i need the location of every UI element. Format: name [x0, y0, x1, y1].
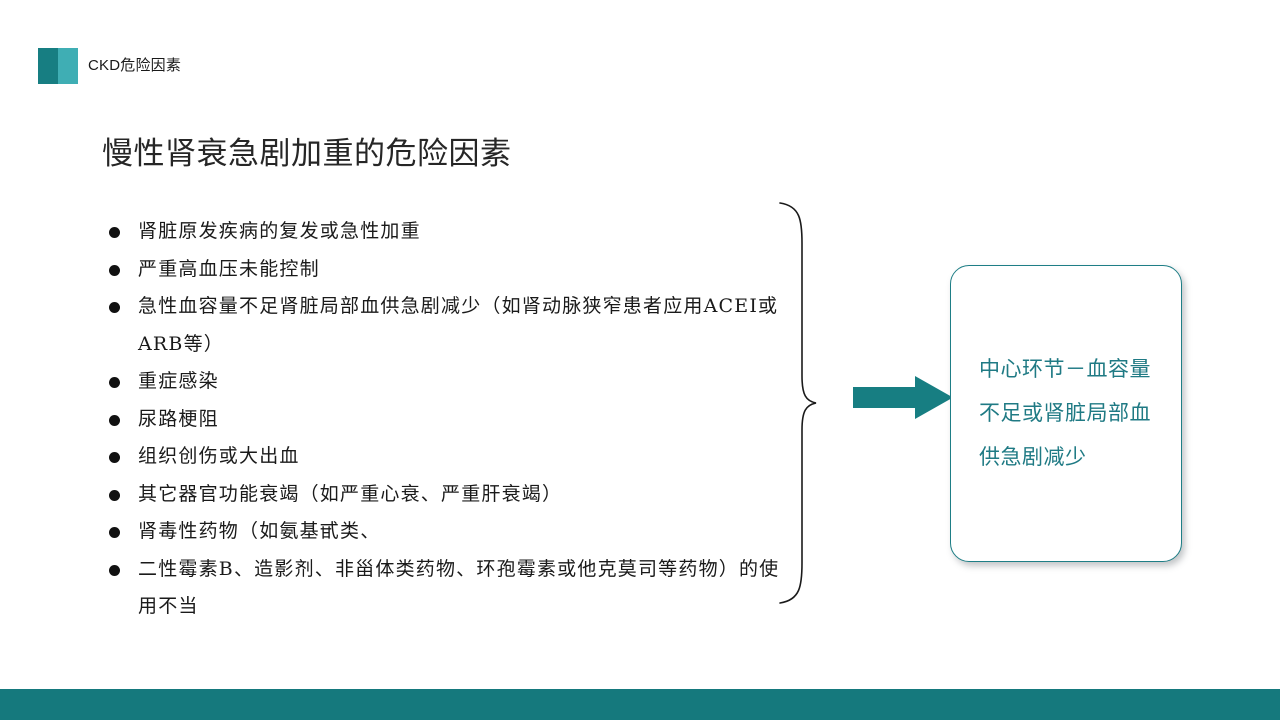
risk-factor-list: 肾脏原发疾病的复发或急性加重 严重高血压未能控制 急性血容量不足肾脏局部血供急剧… [106, 213, 796, 626]
header-accent-square-dark [38, 48, 58, 84]
list-item: 肾毒性药物（如氨基甙类、 [106, 513, 796, 551]
list-item: 其它器官功能衰竭（如严重心衰、严重肝衰竭） [106, 476, 796, 514]
footer-bar [0, 689, 1280, 720]
list-item-text: 肾脏原发疾病的复发或急性加重 [138, 220, 421, 242]
list-item: 重症感染 [106, 363, 796, 401]
header-label: CKD危险因素 [88, 55, 181, 77]
list-item: 严重高血压未能控制 [106, 251, 796, 289]
right-arrow-icon [853, 376, 953, 420]
header-accent-mark [38, 48, 78, 84]
list-item-text: 重症感染 [138, 370, 219, 392]
list-item: 急性血容量不足肾脏局部血供急剧减少（如肾动脉狭窄患者应用ACEI或ARB等） [106, 288, 796, 363]
list-item: 尿路梗阻 [106, 401, 796, 439]
list-item-text: 急性血容量不足肾脏局部血供急剧减少（如肾动脉狭窄患者应用ACEI或ARB等） [138, 295, 778, 355]
list-item-text: 二性霉素B、造影剂、非甾体类药物、环孢霉素或他克莫司等药物）的使用不当 [138, 558, 779, 618]
callout-box: 中心环节－血容量不足或肾脏局部血供急剧减少 [950, 265, 1182, 562]
callout-text: 中心环节－血容量不足或肾脏局部血供急剧减少 [951, 348, 1181, 480]
list-item: 组织创伤或大出血 [106, 438, 796, 476]
header-accent-square-light [58, 48, 78, 84]
list-item-text: 肾毒性药物（如氨基甙类、 [138, 520, 380, 542]
list-item: 二性霉素B、造影剂、非甾体类药物、环孢霉素或他克莫司等药物）的使用不当 [106, 551, 796, 626]
page-title: 慢性肾衰急剧加重的危险因素 [102, 133, 512, 175]
list-item: 肾脏原发疾病的复发或急性加重 [106, 213, 796, 251]
slide-canvas: CKD危险因素 慢性肾衰急剧加重的危险因素 肾脏原发疾病的复发或急性加重 严重高… [0, 0, 1280, 720]
list-item-text: 组织创伤或大出血 [138, 445, 300, 467]
list-item-text: 尿路梗阻 [138, 408, 219, 430]
list-item-text: 其它器官功能衰竭（如严重心衰、严重肝衰竭） [138, 483, 562, 505]
list-item-text: 严重高血压未能控制 [138, 258, 320, 280]
